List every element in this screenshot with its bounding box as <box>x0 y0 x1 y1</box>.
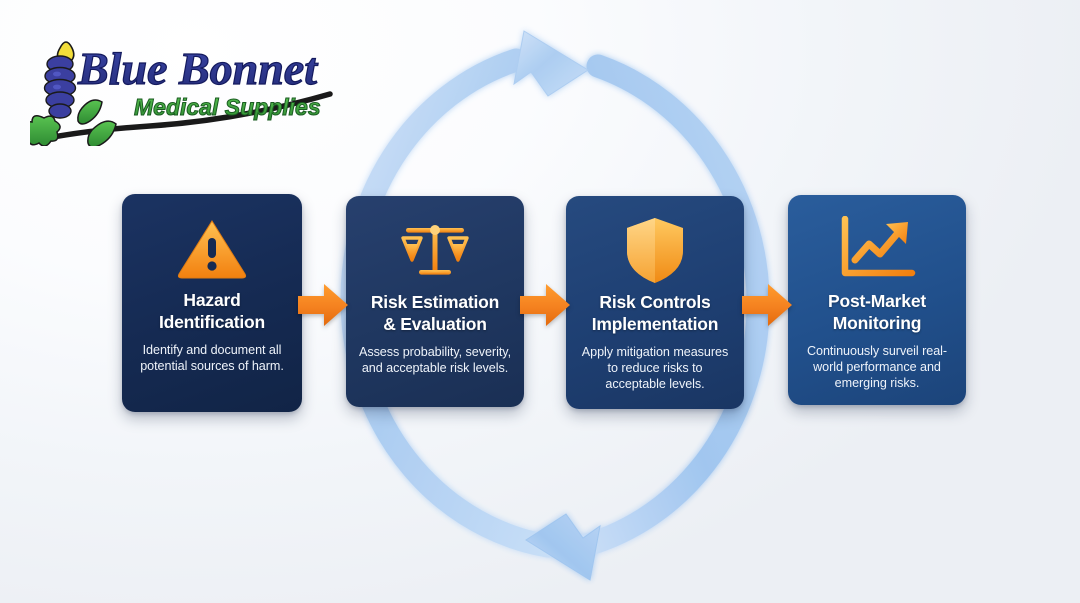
step-card-risk-estimation-evaluation[interactable]: Risk Estimation & Evaluation Assess prob… <box>346 196 524 407</box>
logo-leaves <box>30 100 116 146</box>
infographic-canvas: Blue Bonnet Medical Supplies Hazard Iden… <box>0 0 1080 603</box>
card-description: Assess probability, severity, and accept… <box>358 344 512 376</box>
trending-up-chart-icon <box>838 211 916 287</box>
connector-step2-to-step3-arrow-right-icon <box>518 280 572 330</box>
card-description: Identify and document all potential sour… <box>134 342 290 374</box>
card-title: Risk Controls Implementation <box>592 292 719 335</box>
card-title-line-2: Monitoring <box>833 313 921 333</box>
card-description: Continuously surveil real-world performa… <box>800 343 954 391</box>
step-card-risk-controls-implementation[interactable]: Risk Controls Implementation Apply mitig… <box>566 196 744 409</box>
logo-primary-text: Blue Bonnet <box>77 43 318 94</box>
balance-scale-icon <box>398 212 472 288</box>
logo-secondary-text: Medical Supplies <box>134 94 321 120</box>
warning-triangle-icon <box>176 210 248 286</box>
step-card-hazard-identification[interactable]: Hazard Identification Identify and docum… <box>122 194 302 412</box>
card-title: Post-Market Monitoring <box>828 291 926 334</box>
card-title-line-2: Identification <box>159 312 265 332</box>
shield-icon <box>624 212 686 288</box>
card-title-line-1: Hazard <box>183 290 240 310</box>
bluebonnet-flower-icon <box>45 42 76 118</box>
card-title-line-2: Implementation <box>592 314 719 334</box>
connector-step1-to-step2-arrow-right-icon <box>296 280 350 330</box>
card-description: Apply mitigation measures to reduce risk… <box>578 344 732 392</box>
connector-step3-to-step4-arrow-right-icon <box>740 280 794 330</box>
card-title-line-1: Risk Estimation <box>371 292 499 312</box>
card-title-line-2: & Evaluation <box>383 314 487 334</box>
card-title: Risk Estimation & Evaluation <box>371 292 499 335</box>
card-title: Hazard Identification <box>159 290 265 333</box>
step-card-post-market-monitoring[interactable]: Post-Market Monitoring Continuously surv… <box>788 195 966 405</box>
card-title-line-1: Risk Controls <box>599 292 710 312</box>
brand-logo[interactable]: Blue Bonnet Medical Supplies <box>30 26 350 146</box>
card-title-line-1: Post-Market <box>828 291 926 311</box>
